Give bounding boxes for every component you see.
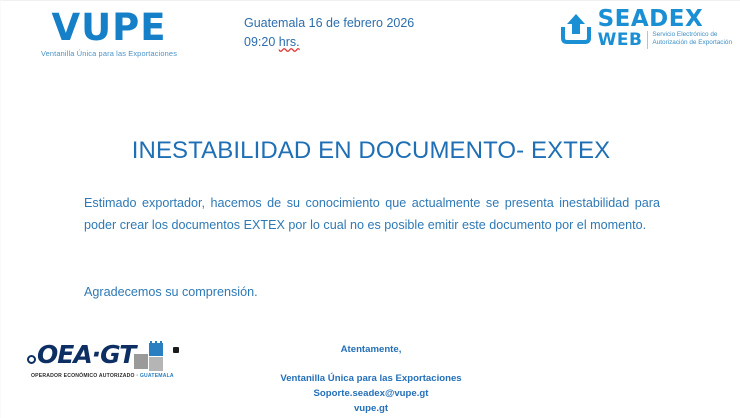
signature-website[interactable]: vupe.gt — [1, 402, 740, 417]
oea-bullet-icon — [27, 355, 36, 364]
date-block: Guatemala 16 de febrero 2026 09:20 hrs. — [244, 14, 414, 53]
oea-cube-icon — [133, 341, 177, 375]
date-line: Guatemala 16 de febrero 2026 — [244, 14, 414, 33]
oea-tagline-country: GUATEMALA — [140, 373, 174, 379]
upload-arrow-icon — [559, 11, 593, 50]
oea-wordmark: OEA·GT — [37, 341, 135, 369]
signature-email[interactable]: Soporte.seadex@vupe.gt — [1, 387, 740, 402]
seadex-tagline: Servicio Electrónico de Autorización de … — [647, 31, 732, 49]
seadex-tagline-line1: Servicio Electrónico de — [652, 31, 732, 39]
vupe-tagline: Ventanilla Única para las Exportaciones — [23, 49, 195, 58]
seadex-logo: SEADEX WEB Servicio Electrónico de Autor… — [559, 9, 732, 50]
vupe-logo: VUPE Ventanilla Única para las Exportaci… — [23, 9, 195, 58]
seadex-web-label: WEB — [598, 32, 643, 49]
time-unit: hrs. — [279, 35, 300, 49]
time-value: 09:20 — [244, 35, 279, 49]
seadex-wordmark: SEADEX — [598, 9, 732, 31]
document-header: VUPE Ventanilla Única para las Exportaci… — [1, 1, 740, 63]
seadex-subrow: WEB Servicio Electrónico de Autorización… — [598, 31, 732, 49]
oea-tagline-prefix: OPERADOR ECONÓMICO AUTORIZADO · — [31, 373, 140, 379]
registered-mark-icon — [173, 347, 179, 353]
time-line: 09:20 hrs. — [244, 33, 414, 52]
notice-document: VUPE Ventanilla Única para las Exportaci… — [0, 0, 740, 418]
oea-tagline: OPERADOR ECONÓMICO AUTORIZADO · GUATEMAL… — [31, 373, 174, 379]
vupe-wordmark: VUPE — [23, 9, 195, 46]
page-title: INESTABILIDAD EN DOCUMENTO- EXTEX — [1, 137, 740, 165]
oea-gt-logo: OEA·GT OPERADOR ECONÓMICO AUTORIZADO · G… — [25, 341, 175, 375]
notice-paragraph-thanks: Agradecemos su comprensión. — [84, 282, 660, 304]
oea-gt-mark: OEA·GT — [25, 341, 175, 375]
seadex-tagline-line2: Autorización de Exportación — [652, 39, 732, 47]
notice-paragraph-primary: Estimado exportador, hacemos de su conoc… — [84, 193, 660, 236]
seadex-text-block: SEADEX WEB Servicio Electrónico de Autor… — [598, 9, 732, 49]
